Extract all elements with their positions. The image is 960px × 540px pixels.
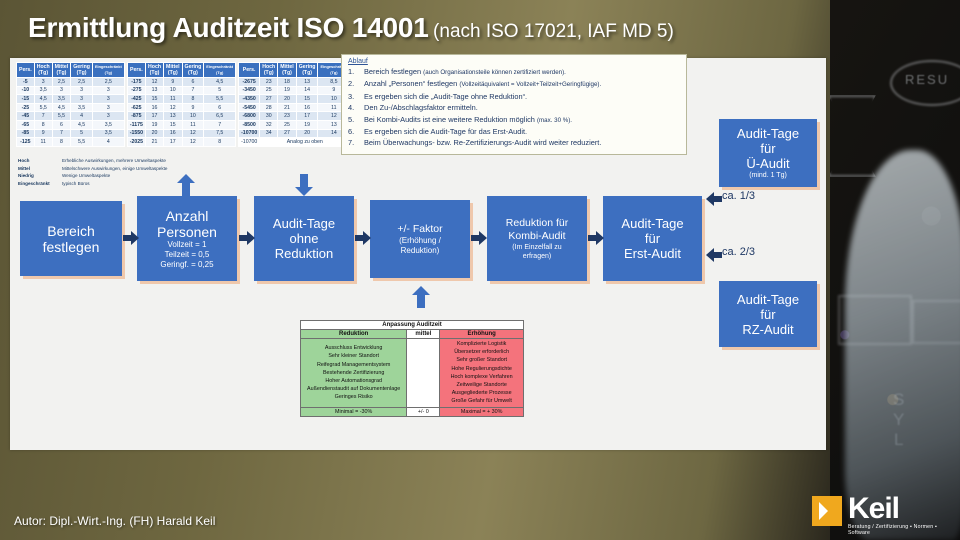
table-row: -1251185,54	[17, 138, 125, 147]
table-cell: -3450	[239, 86, 260, 95]
table-cell: 4,5	[34, 95, 52, 104]
table-cell: 6	[182, 78, 204, 87]
ablauf-item-number: 1.	[348, 66, 364, 78]
table-cell: 20	[278, 95, 297, 104]
table-row: -1070034272014	[239, 129, 350, 138]
table-cell: 13	[146, 86, 164, 95]
table-cell: 27	[278, 129, 297, 138]
table-cell: 27	[260, 95, 278, 104]
table-header-cell: Gering (Tg)	[71, 63, 93, 78]
anpassung-reduktion-items: Ausschluss EntwicklungSehr kleiner Stand…	[301, 339, 407, 408]
table-cell: 3	[71, 86, 93, 95]
table-cell: 11	[182, 120, 204, 129]
arrow-up-right-icon	[706, 191, 722, 207]
anpassung-erhoehung-item: Ausgegliederte Prozesse	[442, 389, 521, 397]
table-cell: 6	[204, 103, 236, 112]
legend-row: HochErhebliche Auswirkungen, mehrere Umw…	[18, 157, 167, 165]
table-cell: 3	[52, 86, 71, 95]
table-cell: 13	[164, 112, 183, 121]
table-header-cell: Eingeschränkt (Tg)	[204, 63, 236, 78]
table-cell: -2675	[239, 78, 260, 87]
table-header-cell: Mittel (Tg)	[52, 63, 71, 78]
audit-day-table-1: Pers.Hoch (Tg)Mittel (Tg)Gering (Tg)Eing…	[16, 62, 125, 147]
legend-term: Mittel	[18, 165, 62, 173]
table-cell: 7,5	[204, 129, 236, 138]
table-cell: 18	[278, 78, 297, 87]
table-cell: 10	[182, 112, 204, 121]
logo-wordmark: Keil	[848, 492, 899, 526]
caption-ca-ein-drittel: ca. 1/3	[722, 190, 755, 202]
legend-description: typisch Büros	[62, 180, 90, 188]
flow-box-7-line2: für	[760, 141, 775, 156]
audit-day-table-3: Pers.Hoch (Tg)Mittel (Tg)Gering (Tg)Eing…	[238, 62, 350, 147]
table-cell: 3,5	[34, 86, 52, 95]
arrow-up-icon-1	[177, 174, 195, 196]
table-cell: -2025	[127, 138, 145, 147]
ablauf-item-text: Den Zu-/Abschlagsfaktor ermitteln.	[364, 102, 478, 113]
flow-box-bereich-festlegen[interactable]: Bereich festlegen	[20, 201, 122, 276]
audit-day-tables: Pers.Hoch (Tg)Mittel (Tg)Gering (Tg)Eing…	[16, 62, 350, 147]
table-cell: 3,5	[92, 120, 124, 129]
ablauf-item-note: (Vollzeitäquivalent = Vollzeit+Teilzeit+…	[459, 81, 601, 88]
flow-box-audit-tage-ohne-reduktion[interactable]: Audit-Tage ohne Reduktion	[254, 196, 354, 281]
anpassung-auditzeit-table: Anpassung Auditzeit Reduktion mittel Erh…	[300, 320, 524, 417]
table-cell: 25	[260, 86, 278, 95]
table-row: -4575,543	[17, 112, 125, 121]
table-cell: 5,5	[52, 112, 71, 121]
table-cell: 23	[278, 112, 297, 121]
table-cell: 8	[52, 138, 71, 147]
table-row: -34502519149	[239, 86, 350, 95]
table-header-cell: Hoch (Tg)	[34, 63, 52, 78]
table-cell: 7	[52, 129, 71, 138]
table-cell: -1175	[127, 120, 145, 129]
ablauf-item-number: 4.	[348, 102, 364, 113]
table-cell: 34	[260, 129, 278, 138]
flow-box-7-line1: Audit-Tage	[737, 126, 799, 141]
table-cell: 16	[164, 129, 183, 138]
table-row: -20252117128	[127, 138, 235, 147]
ablauf-item-note: (auch Organisationsteile können zertifiz…	[423, 69, 566, 76]
table-row: -850032251913	[239, 120, 350, 129]
anpassung-reduktion-item: Reifegrad Managementsystem	[303, 361, 404, 369]
table-cell: 5,5	[34, 103, 52, 112]
table-header-cell: Hoch (Tg)	[260, 63, 278, 78]
table-row: -10700Analog zu oben	[239, 138, 350, 147]
table-row: -154,53,533	[17, 95, 125, 104]
table-cell: -45	[17, 112, 35, 121]
flow-box-2-vollzeit: Vollzeit = 1	[168, 240, 207, 250]
title-subtitle: (nach ISO 17021, IAF MD 5)	[433, 21, 674, 42]
table-cell: 15	[296, 95, 318, 104]
arrow-right-icon-5	[588, 230, 604, 246]
anpassung-erhoehung-item: Komplizierte Logistik	[442, 340, 521, 348]
table-cell: -10	[17, 86, 35, 95]
table-cell: 12	[146, 78, 164, 87]
ablauf-item-number: 3.	[348, 91, 364, 102]
anpassung-col-mittel: mittel	[407, 330, 440, 339]
legend-description: Mittelschwere Auswirkungen, einige Umwel…	[62, 165, 167, 173]
flow-box-3-line3: Reduktion	[275, 246, 334, 261]
table-cell: 30	[260, 112, 278, 121]
flow-box-2-teilzeit: Teilzeit = 0,5	[165, 250, 210, 260]
table-cell: 9	[182, 103, 204, 112]
table-cell: 8	[204, 138, 236, 147]
logo-tagline: Beratung / Zertifizierung ▪ Normen ▪ Sof…	[848, 524, 952, 536]
table-cell: 2,5	[52, 78, 71, 87]
arrow-right-icon-3	[355, 230, 371, 246]
table-cell: 8	[34, 120, 52, 129]
flow-box-6-line2: für	[645, 231, 660, 246]
flow-box-7-sub: (mind. 1 Tg)	[749, 171, 787, 180]
arrow-right-icon-1	[123, 230, 139, 246]
table-cell: 3	[92, 95, 124, 104]
anpassung-mittel-cell	[407, 339, 440, 408]
anpassung-erhoehung-item: Große Gefahr für Umwelt	[442, 397, 521, 405]
table-row: -11751915117	[127, 120, 235, 129]
table-cell: 11	[34, 138, 52, 147]
anpassung-erhoehung-item: Zeitweilige Standorte	[442, 381, 521, 389]
anpassung-reduktion-item: Bestehende Zertifizierung	[303, 369, 404, 377]
pointing-hand-image	[845, 150, 960, 540]
flow-box-6-line3: Erst-Audit	[624, 246, 681, 261]
ablauf-item-text: Anzahl „Personen“ festlegen (Vollzeitäqu…	[364, 78, 601, 90]
ablauf-item-text: Bei Kombi-Audits ist eine weitere Redukt…	[364, 114, 572, 126]
table-cell: -10700	[239, 129, 260, 138]
table-cell: 5	[71, 129, 93, 138]
impact-legend: HochErhebliche Auswirkungen, mehrere Umw…	[18, 157, 167, 187]
table-row: -26752318138,5	[239, 78, 350, 87]
ablauf-item-number: 7.	[348, 137, 364, 148]
table-cell: 12	[182, 129, 204, 138]
table-row: -435027201510	[239, 95, 350, 104]
table-row: -625161296	[127, 103, 235, 112]
legend-row: NiedrigWenige Umweltaspekte	[18, 172, 167, 180]
table-cell: -8500	[239, 120, 260, 129]
table-cell: -275	[127, 86, 145, 95]
ablauf-item: 6.Es ergeben sich die Audit-Tage für das…	[348, 126, 680, 137]
table-header-cell: Pers.	[239, 63, 260, 78]
table-cell: 16	[146, 103, 164, 112]
arrow-right-icon-4	[471, 230, 487, 246]
table-row: -275131075	[127, 86, 235, 95]
table-row: -425151185,5	[127, 95, 235, 104]
table-cell: 4	[71, 112, 93, 121]
table-cell: 3	[34, 78, 52, 87]
arrow-right-icon-2	[239, 230, 255, 246]
table-cell: 11	[164, 95, 183, 104]
table-cell: 15	[146, 95, 164, 104]
table-row: -103,5333	[17, 86, 125, 95]
table-cell: 4,5	[204, 78, 236, 87]
table-row: -680030231712	[239, 112, 350, 121]
ablauf-item-number: 5.	[348, 114, 364, 126]
table-cell: -85	[17, 129, 35, 138]
flow-box-4-line1: +/- Faktor	[397, 223, 442, 236]
table-cell: -4350	[239, 95, 260, 104]
table-cell: 2,5	[71, 78, 93, 87]
ablauf-panel: Ablauf 1.Bereich festlegen (auch Organis…	[341, 54, 687, 155]
ablauf-item: 5.Bei Kombi-Audits ist eine weitere Redu…	[348, 114, 680, 126]
table-cell: 3,5	[52, 95, 71, 104]
table-cell: 3	[71, 95, 93, 104]
table-cell: 6	[52, 120, 71, 129]
flow-box-5-line1: Reduktion für	[506, 217, 568, 230]
flow-box-reduktion-kombi-audit[interactable]: Reduktion für Kombi-Audit (Im Einzelfall…	[487, 196, 587, 281]
table-row: -859753,5	[17, 129, 125, 138]
flow-box-audit-tage-ue-audit[interactable]: Audit-Tage für Ü-Audit (mind. 1 Tg)	[719, 119, 817, 187]
ablauf-item-note: (max. 30 %).	[537, 117, 572, 124]
table-cell: 9	[34, 129, 52, 138]
legend-term: Eingeschränkt	[18, 180, 62, 188]
table-cell: 25	[278, 120, 297, 129]
table-cell: 8	[182, 95, 204, 104]
flow-box-1-line1: Bereich	[47, 223, 94, 239]
flow-box-5-sub2: erfragen)	[523, 252, 551, 261]
arrow-down-right-icon	[706, 247, 722, 263]
table-cell: -5450	[239, 103, 260, 112]
table-cell: 2,5	[92, 78, 124, 87]
flow-box-8-line3: RZ-Audit	[742, 322, 793, 337]
table-cell: 7	[182, 86, 204, 95]
table-cell: 3,5	[71, 103, 93, 112]
flow-box-faktor[interactable]: +/- Faktor (Erhöhung / Reduktion)	[370, 200, 470, 278]
table-cell: -125	[17, 138, 35, 147]
ablauf-item: 1.Bereich festlegen (auch Organisationst…	[348, 66, 680, 78]
anpassung-title: Anpassung Auditzeit	[301, 321, 524, 330]
legend-row: MittelMittelschwere Auswirkungen, einige…	[18, 165, 167, 173]
table-cell: 23	[260, 78, 278, 87]
anpassung-reduktion-item: Sehr kleiner Standort	[303, 352, 404, 360]
table-cell: 12	[164, 103, 183, 112]
table-cell: 28	[260, 103, 278, 112]
flow-box-4-sub1: (Erhöhung /	[399, 236, 441, 246]
flow-box-7-line3: Ü-Audit	[746, 156, 789, 171]
ablauf-item: 2.Anzahl „Personen“ festlegen (Vollzeitä…	[348, 78, 680, 90]
table-cell: -425	[127, 95, 145, 104]
flow-box-5-sub1: (Im Einzelfall zu	[512, 243, 561, 252]
table-cell: 17	[296, 112, 318, 121]
anpassung-col-reduktion: Reduktion	[301, 330, 407, 339]
table-cell: 5,5	[71, 138, 93, 147]
anpassung-erhoehung-item: Hohe Regulierungsdichte	[442, 365, 521, 373]
table-cell: -175	[127, 78, 145, 87]
table-cell: 7	[34, 112, 52, 121]
author-text: Autor: Dipl.-Wirt.-Ing. (FH) Harald Keil	[14, 514, 215, 528]
table-cell: -5	[17, 78, 35, 87]
legend-term: Niedrig	[18, 172, 62, 180]
flow-box-2-line2: Personen	[157, 224, 217, 240]
table-header-cell: Gering (Tg)	[182, 63, 204, 78]
table-row: -65864,53,5	[17, 120, 125, 129]
table-cell: -875	[127, 112, 145, 121]
speech-bubble-text: RESU	[905, 72, 949, 87]
flow-box-3-line2: ohne	[290, 231, 319, 246]
ablauf-item-number: 2.	[348, 78, 364, 90]
table-row: -545028211611	[239, 103, 350, 112]
anpassung-reduktion-item: Außendienstaudit auf Dokumentenlage	[303, 385, 404, 393]
flow-box-4-sub2: Reduktion)	[401, 246, 440, 256]
ablauf-item-text: Bereich festlegen (auch Organisationstei…	[364, 66, 566, 78]
table-cell: 4,5	[52, 103, 71, 112]
anpassung-col-erhoehung: Erhöhung	[440, 330, 524, 339]
arrow-down-icon-1	[295, 174, 313, 196]
ablauf-item-number: 6.	[348, 126, 364, 137]
table-cell: -65	[17, 120, 35, 129]
flow-box-8-line1: Audit-Tage	[737, 292, 799, 307]
flow-box-audit-tage-rz-audit[interactable]: Audit-Tage für RZ-Audit	[719, 281, 817, 347]
anpassung-erhoehung-items: Komplizierte LogistikÜbersetzer erforder…	[440, 339, 524, 408]
table-cell: 5	[204, 86, 236, 95]
table-cell-note: Analog zu oben	[260, 138, 350, 147]
table-cell: 16	[296, 103, 318, 112]
table-cell: 21	[146, 138, 164, 147]
table-cell: 5,5	[204, 95, 236, 104]
flow-box-2-geringfuegig: Geringf. = 0,25	[160, 260, 213, 270]
page-title: Ermittlung Auditzeit ISO 14001 (nach ISO…	[28, 12, 818, 44]
anpassung-foot-mittel: +/- 0	[407, 407, 440, 416]
flow-box-2-line1: Anzahl	[166, 208, 209, 224]
anpassung-reduktion-item: Geringes Risiko	[303, 393, 404, 401]
table-cell: 15	[164, 120, 183, 129]
table-cell: 20	[296, 129, 318, 138]
table-cell: -15	[17, 95, 35, 104]
title-main: Ermittlung Auditzeit ISO 14001	[28, 12, 429, 43]
table-cell: 13	[296, 78, 318, 87]
table-header-cell: Mittel (Tg)	[164, 63, 183, 78]
table-header-cell: Mittel (Tg)	[278, 63, 297, 78]
table-cell: 17	[146, 112, 164, 121]
flow-box-anzahl-personen[interactable]: Anzahl Personen Vollzeit = 1 Teilzeit = …	[137, 196, 237, 281]
legend-description: Wenige Umweltaspekte	[62, 172, 110, 180]
anpassung-erhoehung-item: Sehr großer Standort	[442, 356, 521, 364]
table-cell: 4,5	[71, 120, 93, 129]
table-header-cell: Eingeschränkt (Tg)	[92, 63, 124, 78]
table-header-cell: Hoch (Tg)	[146, 63, 164, 78]
table-cell: -6800	[239, 112, 260, 121]
table-header-cell: Pers.	[127, 63, 145, 78]
anpassung-reduktion-item: Hoher Automationsgrad	[303, 377, 404, 385]
flow-box-6-line1: Audit-Tage	[621, 216, 683, 231]
flow-box-audit-tage-erst-audit[interactable]: Audit-Tage für Erst-Audit	[603, 196, 702, 281]
arrow-up-icon-2	[412, 286, 430, 308]
chevron-logo-icon	[812, 496, 842, 526]
anpassung-foot-maximal: Maximal = + 30%	[440, 407, 524, 416]
table-cell: 3	[92, 86, 124, 95]
table-row: -8751713106,5	[127, 112, 235, 121]
table-cell: 3	[92, 103, 124, 112]
table-cell: 6,5	[204, 112, 236, 121]
legend-row: Eingeschränkttypisch Büros	[18, 180, 167, 188]
keil-logo: Keil Beratung / Zertifizierung ▪ Normen …	[812, 496, 952, 534]
flow-box-5-line2: Kombi-Audit	[508, 230, 565, 243]
audit-day-table-2: Pers.Hoch (Tg)Mittel (Tg)Gering (Tg)Eing…	[127, 62, 236, 147]
table-row: -532,52,52,5	[17, 78, 125, 87]
flow-box-8-line2: für	[760, 307, 775, 322]
table-cell: 19	[146, 120, 164, 129]
table-header-cell: Gering (Tg)	[296, 63, 318, 78]
table-cell: 7	[204, 120, 236, 129]
table-cell: -10700	[239, 138, 260, 147]
ablauf-item: 3.Es ergeben sich die „Audit-Tage ohne R…	[348, 91, 680, 102]
table-cell: 12	[182, 138, 204, 147]
table-cell: 9	[164, 78, 183, 87]
legend-description: Erhebliche Auswirkungen, mehrere Umwelta…	[62, 157, 166, 165]
table-row: -17512964,5	[127, 78, 235, 87]
table-cell: 4	[92, 138, 124, 147]
anpassung-erhoehung-item: Hoch komplexe Verfahren	[442, 373, 521, 381]
ablauf-item: 4.Den Zu-/Abschlagsfaktor ermitteln.	[348, 102, 680, 113]
slide: RESU SYL Ermittlung Auditzeit ISO 14001 …	[0, 0, 960, 540]
ablauf-item-text: Es ergeben sich die „Audit-Tage ohne Red…	[364, 91, 527, 102]
ablauf-item: 7.Beim Überwachungs- bzw. Re-Zertifizier…	[348, 137, 680, 148]
table-cell: 19	[278, 86, 297, 95]
table-row: -15502016127,5	[127, 129, 235, 138]
flow-box-3-line1: Audit-Tage	[273, 216, 335, 231]
table-cell: -1550	[127, 129, 145, 138]
table-cell: 10	[164, 86, 183, 95]
legend-term: Hoch	[18, 157, 62, 165]
table-cell: 14	[296, 86, 318, 95]
anpassung-reduktion-item: Ausschluss Entwicklung	[303, 344, 404, 352]
table-cell: 3	[92, 112, 124, 121]
table-cell: -625	[127, 103, 145, 112]
ablauf-item-text: Es ergeben sich die Audit-Tage für das E…	[364, 126, 527, 137]
flow-box-1-line2: festlegen	[43, 239, 100, 255]
table-cell: 17	[164, 138, 183, 147]
table-cell: 32	[260, 120, 278, 129]
anpassung-erhoehung-item: Übersetzer erforderlich	[442, 348, 521, 356]
table-cell: -25	[17, 103, 35, 112]
ablauf-list: 1.Bereich festlegen (auch Organisationst…	[348, 66, 680, 149]
table-cell: 3,5	[92, 129, 124, 138]
table-cell: 20	[146, 129, 164, 138]
ablauf-heading: Ablauf	[348, 58, 680, 65]
caption-ca-zwei-drittel: ca. 2/3	[722, 246, 755, 258]
table-cell: 19	[296, 120, 318, 129]
table-row: -255,54,53,53	[17, 103, 125, 112]
table-cell: 21	[278, 103, 297, 112]
table-header-cell: Pers.	[17, 63, 35, 78]
ablauf-item-text: Beim Überwachungs- bzw. Re-Zertifizierun…	[364, 137, 601, 148]
anpassung-foot-minimal: Minimal = -30%	[301, 407, 407, 416]
